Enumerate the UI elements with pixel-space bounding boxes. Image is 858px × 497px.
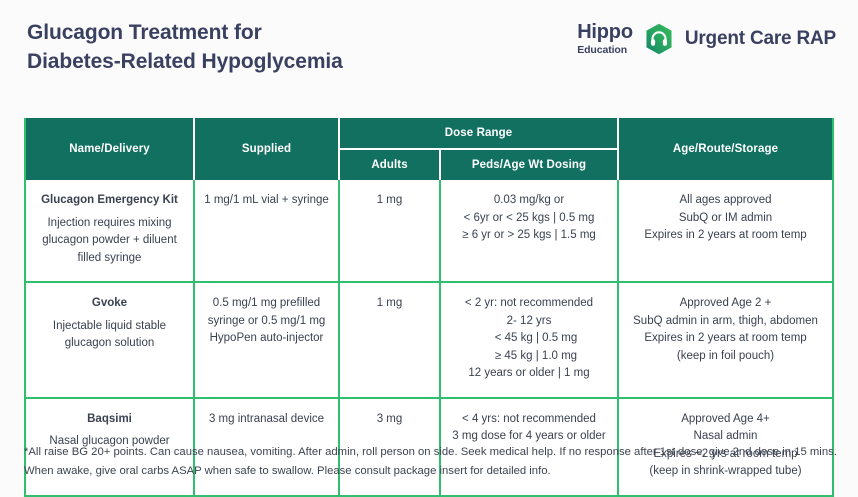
glucagon-dosing-table-wrapper: Name/Delivery Supplied Dose Range Age/Ro… (24, 118, 834, 497)
supplied-line: HypoPen auto-injector (203, 330, 330, 348)
page-title: Glucagon Treatment for Diabetes-Related … (27, 18, 547, 76)
cell-adults-dose: 1 mg (339, 180, 440, 282)
column-header-supplied: Supplied (194, 118, 339, 180)
hippo-wordmark-main: Hippo (577, 22, 633, 42)
age-route-line: SubQ admin in arm, thigh, abdomen (627, 313, 824, 331)
supplied-line: 1 mg/1 mL vial + syringe (203, 192, 330, 210)
age-route-line: SubQ or IM admin (627, 210, 824, 228)
column-header-adults: Adults (339, 149, 440, 180)
drug-name: Glucagon Emergency Kit (34, 192, 185, 210)
cell-adults-dose: 1 mg (339, 282, 440, 398)
glucagon-dosing-table: Name/Delivery Supplied Dose Range Age/Ro… (26, 118, 832, 495)
cell-peds-dose: < 2 yr: not recommended 2- 12 yrs < 45 k… (440, 282, 618, 398)
table-header-row-1: Name/Delivery Supplied Dose Range Age/Ro… (26, 118, 832, 149)
peds-dose-line: ≥ 6 yr or > 25 kgs | 1.5 mg (449, 227, 609, 245)
cell-peds-dose: 0.03 mg/kg or < 6yr or < 25 kgs | 0.5 mg… (440, 180, 618, 282)
cell-supplied: 1 mg/1 mL vial + syringe (194, 180, 339, 282)
age-route-line: All ages approved (627, 192, 824, 210)
column-header-name-delivery: Name/Delivery (26, 118, 194, 180)
cell-age-route-storage: All ages approved SubQ or IM admin Expir… (618, 180, 832, 282)
peds-dose-line: 2- 12 yrs (449, 313, 609, 331)
column-header-age-route-storage: Age/Route/Storage (618, 118, 832, 180)
footnote-text: *All raise BG 20+ points. Can cause naus… (24, 443, 842, 481)
peds-dose-line: ≥ 45 kg | 1.0 mg (449, 348, 609, 366)
age-route-line: Approved Age 4+ (627, 411, 824, 429)
table-row: Glucagon Emergency Kit Injection require… (26, 180, 832, 282)
cell-name-delivery: Glucagon Emergency Kit Injection require… (26, 180, 194, 282)
infographic-page: Glucagon Treatment for Diabetes-Related … (0, 0, 858, 492)
age-route-line: Approved Age 2 + (627, 295, 824, 313)
column-header-peds: Peds/Age Wt Dosing (440, 149, 618, 180)
cell-name-delivery: Gvoke Injectable liquid stable glucagon … (26, 282, 194, 398)
hippo-wordmark-sub: Education (577, 45, 627, 56)
peds-dose-line: < 2 yr: not recommended (449, 295, 609, 313)
page-header: Glucagon Treatment for Diabetes-Related … (0, 0, 858, 108)
age-route-line: (keep in foil pouch) (627, 348, 824, 366)
table-header: Name/Delivery Supplied Dose Range Age/Ro… (26, 118, 832, 180)
peds-dose-line: < 45 kg | 0.5 mg (449, 330, 609, 348)
drug-name: Gvoke (34, 295, 185, 313)
supplied-line: syringe or 0.5 mg/1 mg (203, 313, 330, 331)
brand-lockup: Hippo Education (577, 22, 836, 56)
product-name: Urgent Care RAP (685, 28, 836, 50)
age-route-line: Expires in 2 years at room temp (627, 227, 824, 245)
page-title-line-2: Diabetes-Related Hypoglycemia (27, 47, 547, 76)
drug-name: Baqsimi (34, 411, 185, 429)
age-route-line: Expires in 2 years at room temp (627, 330, 824, 348)
adult-dose-line: 1 mg (348, 295, 431, 313)
page-title-line-1: Glucagon Treatment for (27, 18, 547, 47)
cell-age-route-storage: Approved Age 2 + SubQ admin in arm, thig… (618, 282, 832, 398)
supplied-line: 3 mg intranasal device (203, 411, 330, 429)
peds-dose-line: < 6yr or < 25 kgs | 0.5 mg (449, 210, 609, 228)
peds-dose-line: 0.03 mg/kg or (449, 192, 609, 210)
supplied-line: 0.5 mg/1 mg prefilled (203, 295, 330, 313)
drug-delivery-description: Injectable liquid stable glucagon soluti… (34, 318, 185, 353)
drug-delivery-description: Injection requires mixing glucagon powde… (34, 215, 185, 268)
cell-supplied: 0.5 mg/1 mg prefilled syringe or 0.5 mg/… (194, 282, 339, 398)
adult-dose-line: 3 mg (348, 411, 431, 429)
column-header-dose-range: Dose Range (339, 118, 618, 149)
peds-dose-line: < 4 yrs: not recommended (449, 411, 609, 429)
adult-dose-line: 1 mg (348, 192, 431, 210)
headphones-hexagon-icon (642, 22, 676, 56)
hippo-education-wordmark: Hippo Education (577, 22, 633, 56)
table-row: Gvoke Injectable liquid stable glucagon … (26, 282, 832, 398)
peds-dose-line: 12 years or older | 1 mg (449, 365, 609, 383)
